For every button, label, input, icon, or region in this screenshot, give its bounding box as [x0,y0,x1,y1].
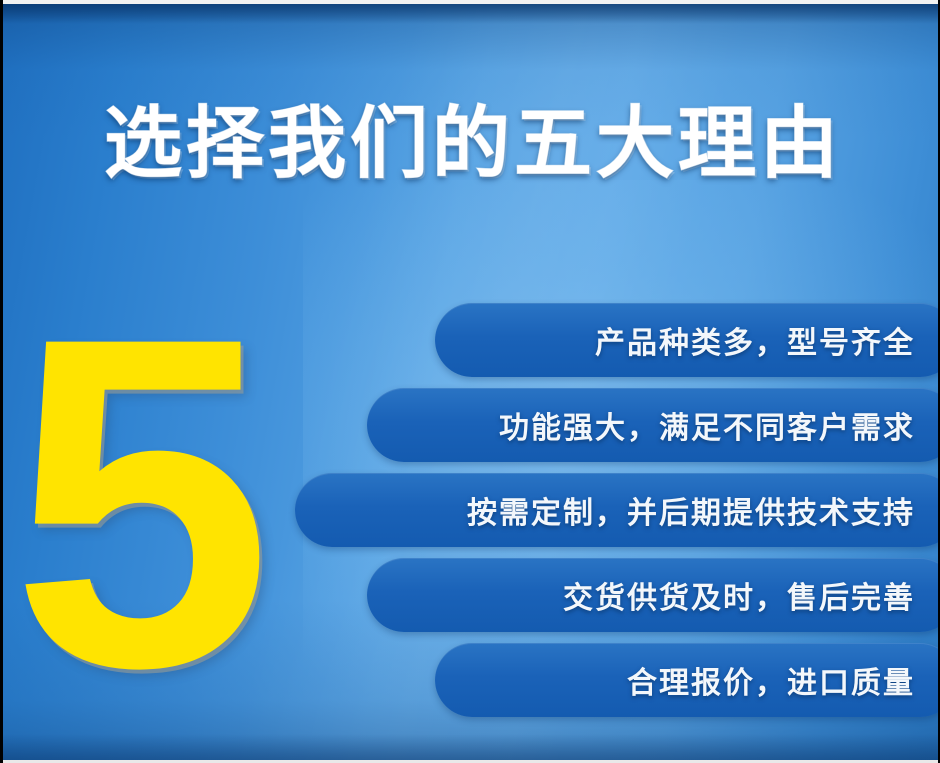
reason-label-4: 交货供货及时，售后完善 [563,573,915,617]
reason-label-2: 功能强大，满足不同客户需求 [499,403,915,447]
reason-pill-2[interactable]: 功能强大，满足不同客户需求 [367,388,940,462]
reason-label-5: 合理报价，进口质量 [627,658,915,702]
reasons-list: 产品种类多，型号齐全 功能强大，满足不同客户需求 按需定制，并后期提供技术支持 … [3,0,940,763]
reason-label-1: 产品种类多，型号齐全 [595,318,915,362]
promo-poster: 选择我们的五大理由 5 产品种类多，型号齐全 功能强大，满足不同客户需求 按需定… [0,0,940,763]
reason-pill-4[interactable]: 交货供货及时，售后完善 [367,558,940,632]
reason-label-3: 按需定制，并后期提供技术支持 [467,488,915,532]
reason-pill-1[interactable]: 产品种类多，型号齐全 [435,303,940,377]
reason-pill-5[interactable]: 合理报价，进口质量 [435,643,940,717]
reason-pill-3[interactable]: 按需定制，并后期提供技术支持 [295,473,940,547]
